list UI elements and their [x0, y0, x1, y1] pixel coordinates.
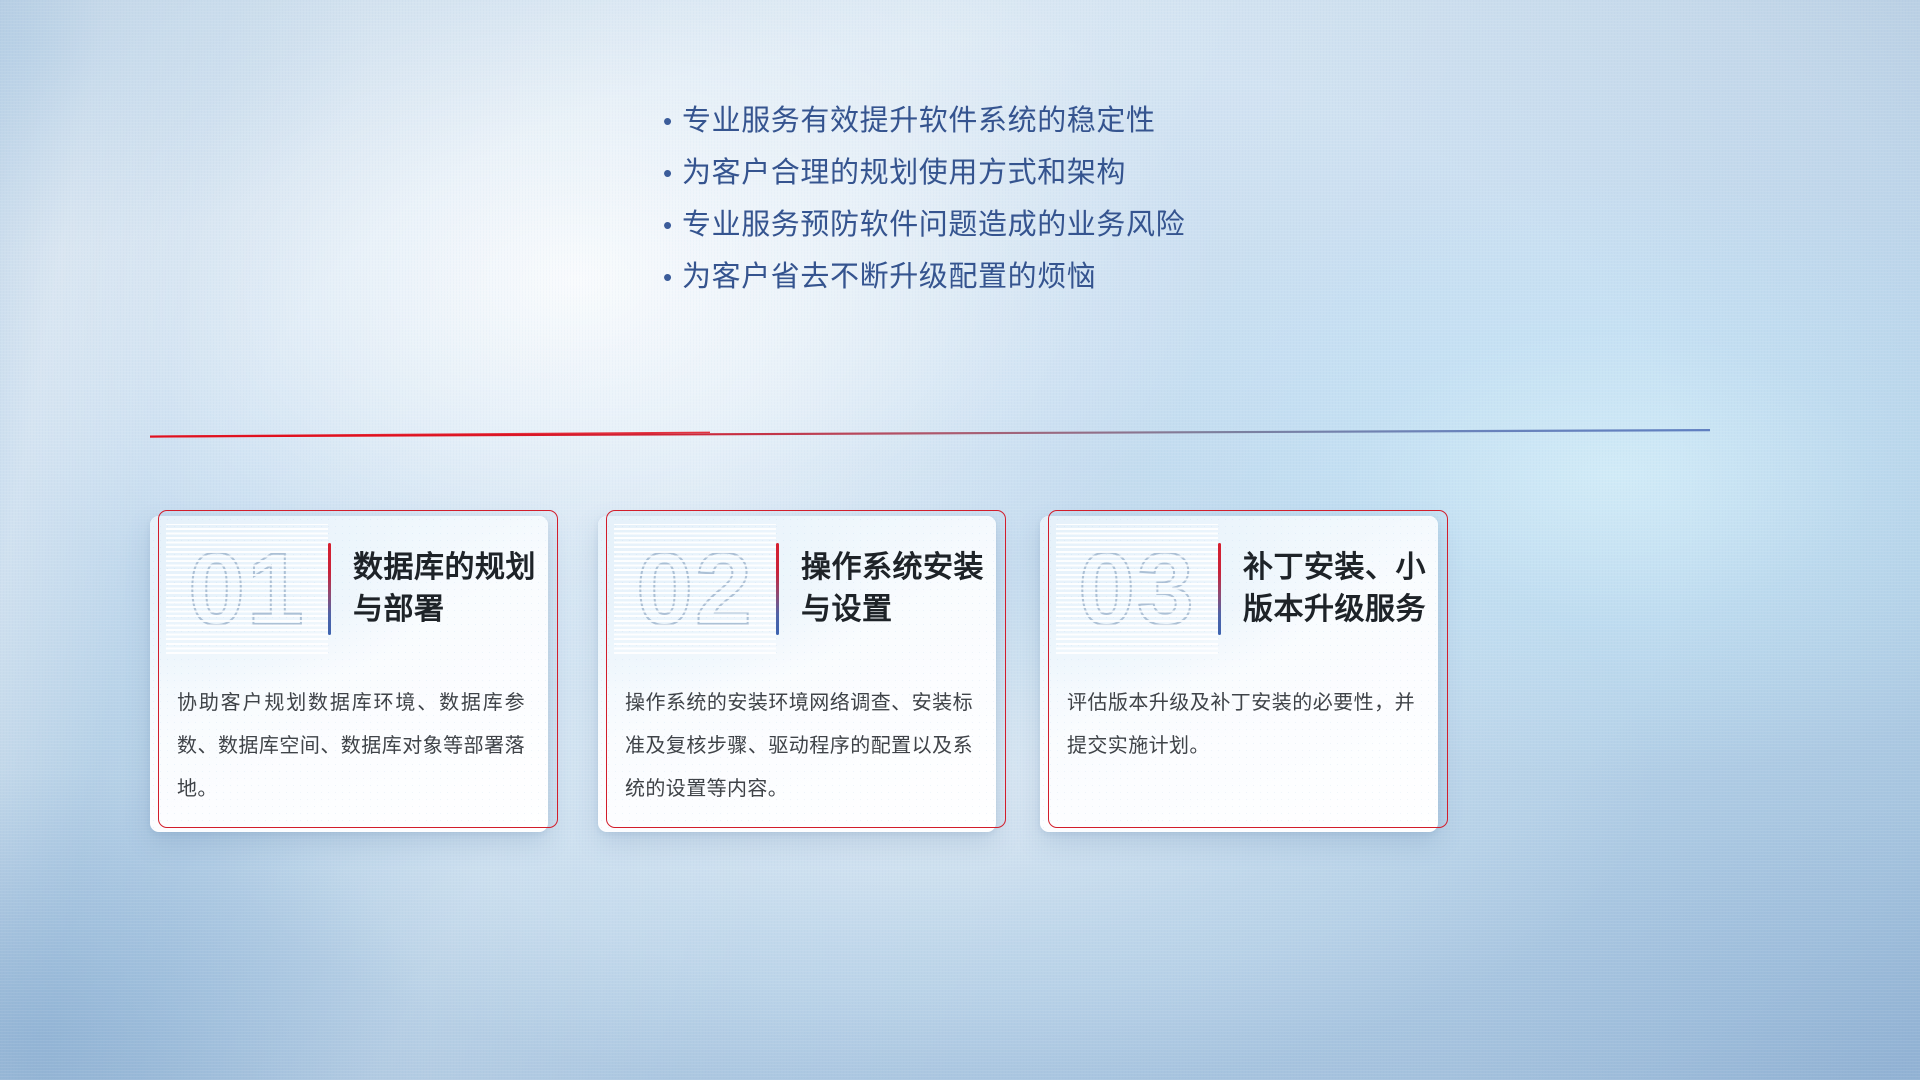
bullet-item-1: • 专业服务有效提升软件系统的稳定性 [660, 104, 1420, 156]
bullet-item-2: • 为客户合理的规划使用方式和架构 [660, 156, 1420, 208]
card-number-ghost-2: 02 [620, 530, 770, 648]
benefits-bullet-list: • 专业服务有效提升软件系统的稳定性 • 为客户合理的规划使用方式和架构 • 专… [660, 104, 1420, 312]
card-title-1: 数据库的规划 与部署 [353, 547, 536, 631]
card-accent-divider [776, 543, 779, 635]
service-cards-row: 01 数据库的规划 与部署 协助客户规划数据库环境、数据库参数、数据库空间、数据… [150, 516, 1770, 856]
card-header: 03 补丁安装、小 版本升级服务 [1040, 516, 1440, 662]
card-number-ghost-3: 03 [1062, 530, 1212, 648]
card-body-1: 协助客户规划数据库环境、数据库参数、数据库空间、数据库对象等部署落地。 [177, 682, 525, 811]
card-title-3: 补丁安装、小 版本升级服务 [1243, 547, 1426, 631]
card-body-3: 评估版本升级及补丁安装的必要性，并提交实施计划。 [1067, 682, 1415, 768]
divider-wedge-shape [150, 424, 1710, 442]
section-divider [150, 424, 1710, 442]
card-title-2: 操作系统安装 与设置 [801, 547, 984, 631]
bullet-text-3: 专业服务预防软件问题造成的业务风险 [682, 208, 1185, 242]
bullet-text-2: 为客户合理的规划使用方式和架构 [682, 156, 1126, 190]
bullet-marker-icon: • [660, 208, 682, 242]
bullet-marker-icon: • [660, 260, 682, 294]
bullet-item-3: • 专业服务预防软件问题造成的业务风险 [660, 208, 1420, 260]
card-accent-divider [328, 543, 331, 635]
card-header: 02 操作系统安装 与设置 [598, 516, 998, 662]
service-card-3[interactable]: 03 补丁安装、小 版本升级服务 评估版本升级及补丁安装的必要性，并提交实施计划… [1040, 516, 1440, 836]
card-accent-divider [1218, 543, 1221, 635]
bullet-text-1: 专业服务有效提升软件系统的稳定性 [682, 104, 1156, 138]
bullet-text-4: 为客户省去不断升级配置的烦恼 [682, 260, 1096, 294]
service-card-1[interactable]: 01 数据库的规划 与部署 协助客户规划数据库环境、数据库参数、数据库空间、数据… [150, 516, 550, 836]
bullet-marker-icon: • [660, 104, 682, 138]
slide-canvas: • 专业服务有效提升软件系统的稳定性 • 为客户合理的规划使用方式和架构 • 专… [0, 0, 1920, 1080]
card-body-2: 操作系统的安装环境网络调查、安装标准及复核步骤、驱动程序的配置以及系统的设置等内… [625, 682, 973, 811]
card-number-ghost-1: 01 [172, 530, 322, 648]
bullet-item-4: • 为客户省去不断升级配置的烦恼 [660, 260, 1420, 312]
service-card-2[interactable]: 02 操作系统安装 与设置 操作系统的安装环境网络调查、安装标准及复核步骤、驱动… [598, 516, 998, 836]
card-header: 01 数据库的规划 与部署 [150, 516, 550, 662]
bullet-marker-icon: • [660, 156, 682, 190]
